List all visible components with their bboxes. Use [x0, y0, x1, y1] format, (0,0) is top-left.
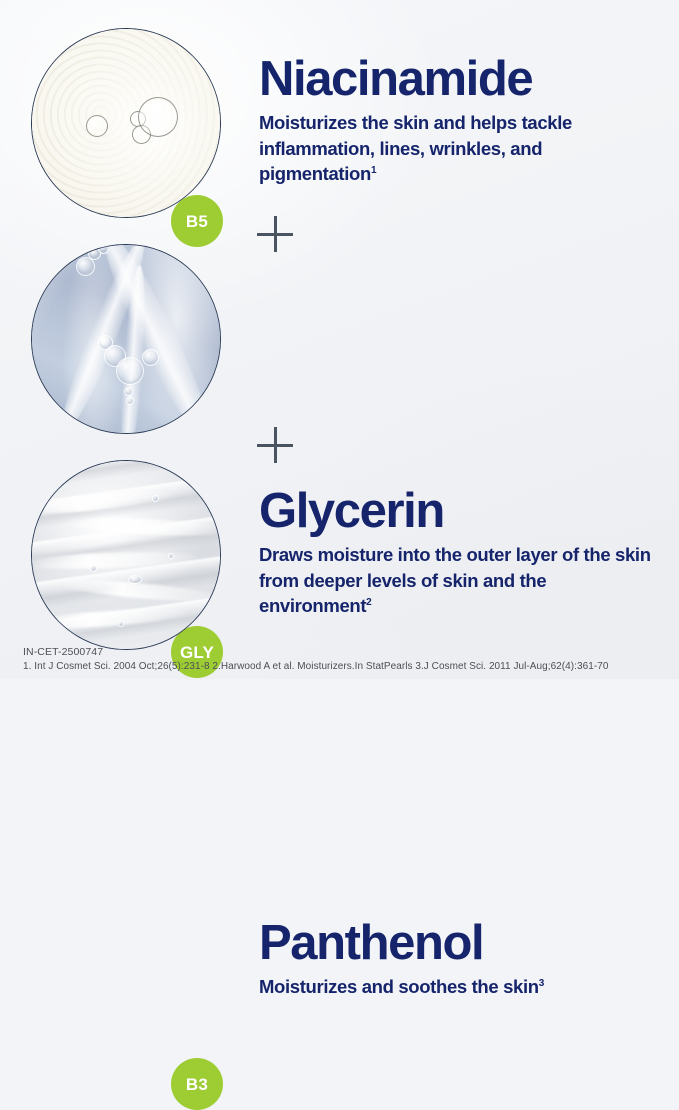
bubble-icon — [86, 115, 108, 137]
plus-bar-vertical — [274, 427, 277, 463]
plus-separator-icon — [257, 427, 293, 463]
bubble-icon — [128, 575, 142, 584]
panthenol-gel-swatch — [31, 460, 221, 650]
bubble-icon — [142, 349, 159, 366]
ingredient-title: Panthenol — [259, 920, 659, 967]
gel-texture — [31, 28, 221, 218]
bubble-icon — [116, 357, 144, 385]
ingredient-badge-b5: B5 — [171, 195, 223, 247]
badge-label: B5 — [186, 213, 208, 230]
ingredient-row-glycerin: GLY Glycerin Draws moisture into the out… — [0, 244, 679, 442]
ingredient-description: Moisturizes the skin and helps tackle in… — [259, 110, 659, 187]
ingredient-badge-b3: B3 — [171, 1058, 223, 1110]
ingredient-row-panthenol: B3 Panthenol Moisturizes and soothes the… — [0, 460, 679, 658]
footer-code: IN-CET-2500747 — [23, 646, 663, 658]
badge-label: B3 — [186, 1076, 208, 1093]
bubble-icon — [118, 621, 124, 627]
bubble-icon — [126, 397, 134, 405]
bubble-icon — [138, 97, 178, 137]
ingredient-copy-niacinamide: Niacinamide Moisturizes the skin and hel… — [259, 56, 659, 187]
ingredient-reference-marker: 1 — [371, 165, 376, 176]
bubble-icon — [124, 387, 133, 396]
glycerin-gel-swatch — [31, 244, 221, 434]
ingredient-copy-panthenol: Panthenol Moisturizes and soothes the sk… — [259, 920, 659, 1000]
niacinamide-gel-swatch — [31, 28, 221, 218]
ingredient-description-text: Moisturizes the skin and helps tackle in… — [259, 112, 572, 184]
bubble-icon — [90, 565, 97, 572]
bubble-icon — [168, 553, 174, 559]
bubble-icon — [152, 495, 159, 502]
ingredient-reference-marker: 3 — [539, 978, 544, 989]
footer-references: 1. Int J Cosmet Sci. 2004 Oct;26(5):231-… — [23, 661, 663, 672]
ingredient-description: Moisturizes and soothes the skin3 — [259, 974, 659, 1000]
ingredient-title: Niacinamide — [259, 56, 659, 103]
ingredient-description-text: Moisturizes and soothes the skin — [259, 976, 539, 997]
ingredient-row-niacinamide: B5 Niacinamide Moisturizes the skin and … — [0, 28, 679, 226]
ingredient-infographic: B5 Niacinamide Moisturizes the skin and … — [0, 0, 679, 679]
footer: IN-CET-2500747 1. Int J Cosmet Sci. 2004… — [23, 646, 663, 672]
